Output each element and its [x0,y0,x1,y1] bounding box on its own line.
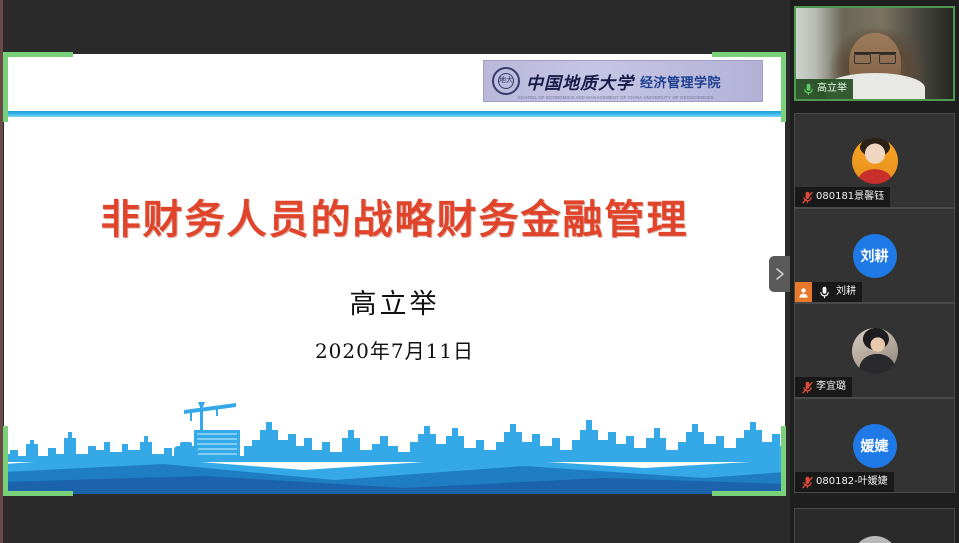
participant-tile[interactable]: 刘耕 刘耕 [794,208,955,303]
participant-filmstrip[interactable]: 高立举 080181景馨钰 [790,0,959,543]
participant-nameplate: 080182-叶媛婕 [795,472,894,492]
participant-nameplate: 李宜璐 [795,377,852,397]
participant-name: 刘耕 [836,282,856,302]
seal-inner-text: 地大 [498,73,514,89]
shared-screen-region: 地大 中国地质大学 经济管理学院 SCHOOL OF ECONOMICS AND… [0,0,790,543]
slide-accent-rule [4,111,785,117]
university-name: 中国地质大学 [526,69,634,94]
logo-english-subtitle: SCHOOL OF ECONOMICS AND MANAGEMENT OF CH… [518,95,714,100]
avatar: 媛婕 [853,424,897,468]
participant-tile[interactable] [794,508,955,543]
participant-name: 080182-叶媛婕 [816,472,888,492]
host-badge-icon [795,282,812,302]
participant-nameplate: 高立举 [796,79,853,99]
avatar: 刘耕 [853,234,897,278]
mic-muted-icon[interactable] [795,381,813,394]
participant-name: 080181景馨钰 [816,187,884,207]
share-border-top-left [3,52,73,57]
participant-tile[interactable]: 080181景馨钰 [794,113,955,208]
share-border-right-bottom [781,426,786,496]
city-skyline-graphic [4,384,785,494]
university-logo-banner: 地大 中国地质大学 经济管理学院 SCHOOL OF ECONOMICS AND… [483,60,763,102]
avatar [852,138,898,184]
participant-tile[interactable]: 李宜璐 [794,303,955,398]
skyline-svg [4,384,785,494]
participant-tile[interactable]: 高立举 [794,6,955,101]
mic-on-icon[interactable] [815,286,833,299]
school-name: 经济管理学院 [640,72,721,91]
avatar [852,328,898,374]
share-border-left-top [3,52,8,122]
glasses-icon [854,52,896,60]
share-border-top-right [712,52,786,57]
share-border-left-bottom [3,426,8,496]
mic-muted-icon[interactable] [795,191,813,204]
slide-title: 非财务人员的战略财务金融管理 [4,187,785,245]
slide-date: 2020年7月11日 [4,335,785,364]
participant-tile[interactable]: 媛婕 080182-叶媛婕 [794,398,955,493]
collapse-panel-button[interactable] [769,256,790,292]
meeting-window: 地大 中国地质大学 经济管理学院 SCHOOL OF ECONOMICS AND… [0,0,959,543]
slide-author: 高立举 [4,282,785,321]
mic-muted-icon[interactable] [795,476,813,489]
university-seal-icon: 地大 [492,67,520,95]
participant-nameplate: 刘耕 [795,282,862,302]
participant-name: 高立举 [817,79,847,99]
share-border-right-top [781,52,786,122]
participant-name: 李宜璐 [816,377,846,397]
participant-nameplate: 080181景馨钰 [795,187,890,207]
slide-header: 地大 中国地质大学 经济管理学院 SCHOOL OF ECONOMICS AND… [4,54,785,109]
share-border-bottom-left [3,491,73,496]
share-border-bottom-right [712,491,786,496]
avatar [852,536,898,543]
tile-background [795,509,954,543]
chevron-right-icon [775,267,785,281]
mic-on-icon[interactable] [796,83,814,96]
presentation-slide: 地大 中国地质大学 经济管理学院 SCHOOL OF ECONOMICS AND… [4,54,785,494]
